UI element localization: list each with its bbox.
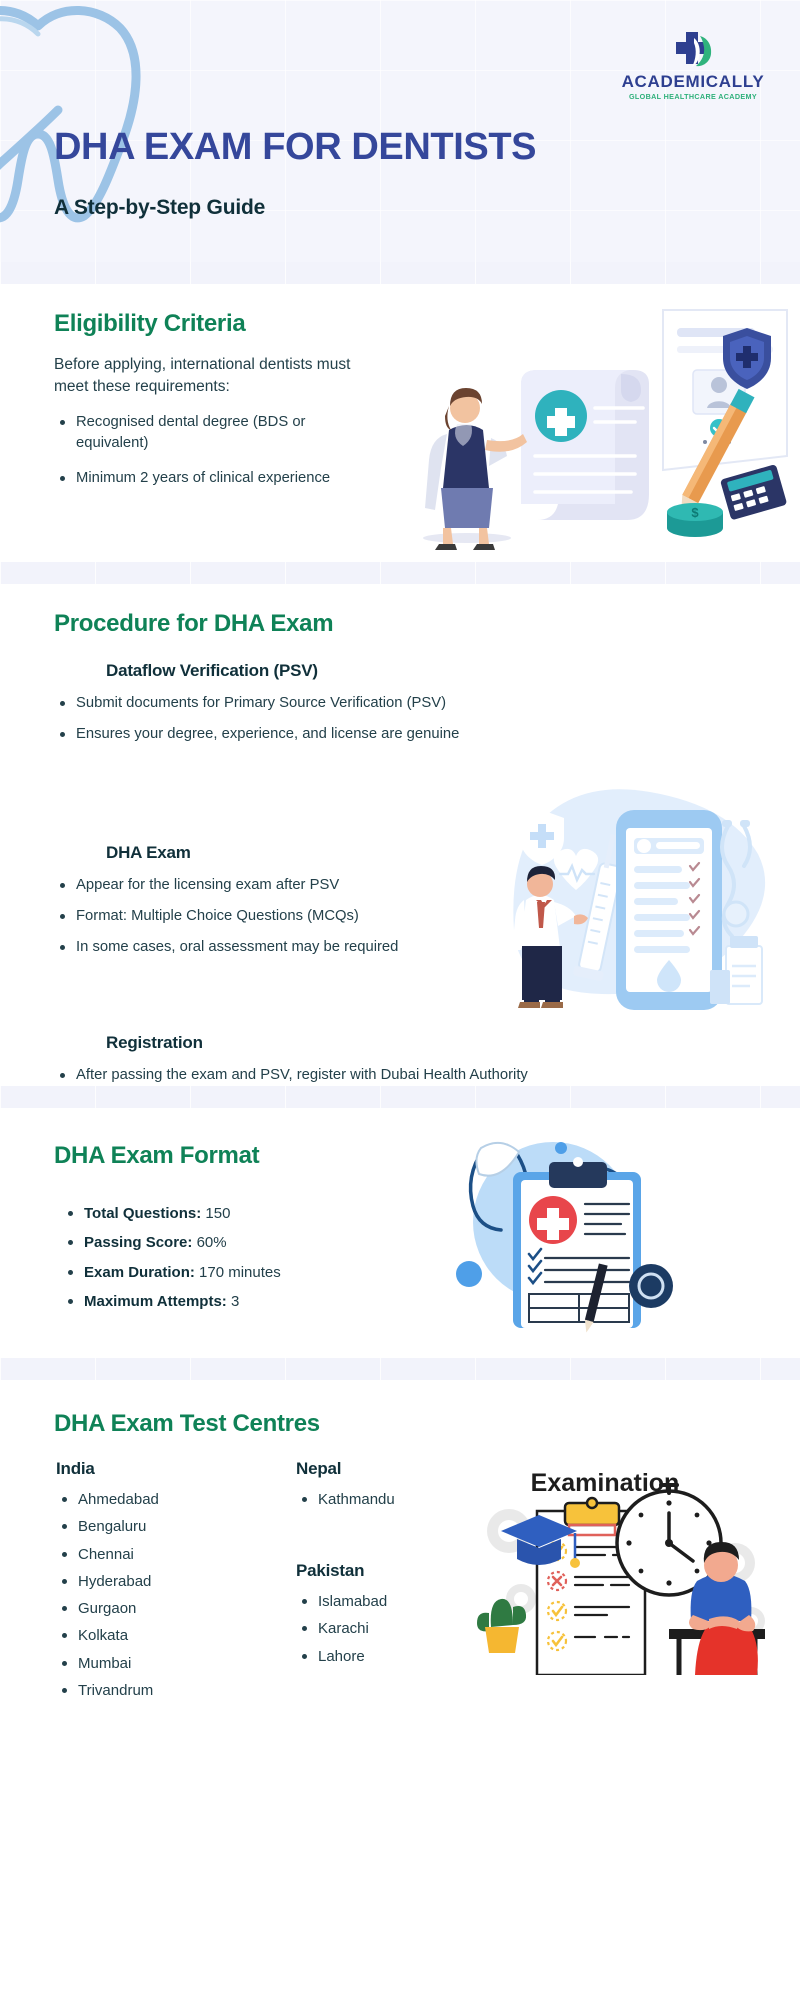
city-list: Islamabad Karachi Lahore [296, 1591, 466, 1667]
section-divider [0, 1086, 800, 1108]
medical-cross-logo-icon [670, 30, 716, 70]
list-item: Trivandrum [56, 1680, 246, 1701]
svg-text:$: $ [691, 505, 699, 520]
list-item: Appear for the licensing exam after PSV [54, 875, 564, 896]
page-subtitle: A Step-by-Step Guide [54, 197, 265, 218]
format-label: Maximum Attempts: [84, 1293, 227, 1310]
country-column-india: India Ahmedabad Bengaluru Chennai Hydera… [56, 1460, 246, 1707]
section-test-centres: DHA Exam Test Centres India Ahmedabad Be… [0, 1380, 800, 1768]
format-value: 150 [205, 1205, 230, 1222]
format-label: Passing Score: [84, 1234, 192, 1251]
illustration-label: Examination [531, 1469, 680, 1497]
group-title: Dataflow Verification (PSV) [106, 662, 564, 679]
section-procedure: Procedure for DHA Exam Dataflow Verifica… [0, 584, 800, 1086]
group-list: Submit documents for Primary Source Veri… [54, 693, 564, 745]
list-item: Hyderabad [56, 1571, 246, 1592]
section-divider [0, 562, 800, 584]
country-column-pakistan: Pakistan Islamabad Karachi Lahore [296, 1562, 466, 1673]
list-item: Islamabad [296, 1591, 466, 1612]
country-name: Nepal [296, 1460, 466, 1477]
doctor-with-document-illustration: $ [395, 288, 795, 558]
list-item: Exam Duration: 170 minutes [62, 1262, 402, 1283]
examination-student-illustration: Examination [465, 1415, 795, 1675]
city-list: Kathmandu [296, 1489, 466, 1510]
list-item: Gurgaon [56, 1598, 246, 1619]
list-item: Minimum 2 years of clinical experience [54, 468, 344, 489]
group-title: DHA Exam [106, 844, 564, 861]
list-item: Ensures your degree, experience, and lic… [54, 724, 564, 745]
list-item: In some cases, oral assessment may be re… [54, 937, 564, 958]
city-list: Ahmedabad Bengaluru Chennai Hyderabad Gu… [56, 1489, 246, 1701]
eligibility-heading: Eligibility Criteria [54, 312, 245, 336]
page-title: DHA EXAM FOR DENTISTS [54, 128, 536, 166]
list-item: Passing Score: 60% [62, 1232, 402, 1253]
list-item: Chennai [56, 1544, 246, 1565]
format-list: Total Questions: 150 Passing Score: 60% … [62, 1203, 402, 1320]
list-item: Kathmandu [296, 1489, 466, 1510]
section-divider [0, 262, 800, 284]
country-name: India [56, 1460, 246, 1477]
clipboard-stethoscope-illustration [425, 1118, 675, 1333]
group-title: Registration [106, 1034, 564, 1051]
list-item: Lahore [296, 1646, 466, 1667]
format-value: 3 [231, 1293, 239, 1310]
list-item: Submit documents for Primary Source Veri… [54, 693, 564, 714]
format-value: 60% [197, 1234, 227, 1251]
country-column-nepal: Nepal Kathmandu [296, 1460, 466, 1516]
eligibility-list: Recognised dental degree (BDS or equival… [54, 412, 344, 503]
section-eligibility: Eligibility Criteria Before applying, in… [0, 284, 800, 562]
format-heading: DHA Exam Format [54, 1144, 259, 1168]
centres-heading: DHA Exam Test Centres [54, 1412, 320, 1436]
list-item: Kolkata [56, 1625, 246, 1646]
logo-name: ACADEMICALLY [618, 73, 768, 90]
group-list: Appear for the licensing exam after PSV … [54, 875, 564, 958]
country-name: Pakistan [296, 1562, 466, 1579]
header: ACADEMICALLY GLOBAL HEALTHCARE ACADEMY D… [0, 0, 800, 262]
brand-logo[interactable]: ACADEMICALLY GLOBAL HEALTHCARE ACADEMY [618, 30, 768, 100]
section-exam-format: DHA Exam Format Total Questions: 150 Pas… [0, 1108, 800, 1358]
procedure-group-exam: DHA Exam Appear for the licensing exam a… [54, 844, 564, 968]
format-label: Total Questions: [84, 1205, 201, 1222]
eligibility-intro: Before applying, international dentists … [54, 354, 384, 398]
list-item: Format: Multiple Choice Questions (MCQs) [54, 906, 564, 927]
format-label: Exam Duration: [84, 1264, 195, 1281]
list-item: Recognised dental degree (BDS or equival… [54, 412, 344, 454]
section-divider [0, 1358, 800, 1380]
list-item: Maximum Attempts: 3 [62, 1291, 402, 1312]
format-value: 170 minutes [199, 1264, 281, 1281]
procedure-group-dataflow: Dataflow Verification (PSV) Submit docum… [54, 662, 564, 755]
infographic-page: ACADEMICALLY GLOBAL HEALTHCARE ACADEMY D… [0, 0, 800, 2000]
procedure-heading: Procedure for DHA Exam [54, 612, 333, 636]
list-item: Mumbai [56, 1653, 246, 1674]
list-item: Ahmedabad [56, 1489, 246, 1510]
list-item: Karachi [296, 1618, 466, 1639]
logo-tagline: GLOBAL HEALTHCARE ACADEMY [618, 93, 768, 100]
list-item: Total Questions: 150 [62, 1203, 402, 1224]
list-item: Bengaluru [56, 1516, 246, 1537]
